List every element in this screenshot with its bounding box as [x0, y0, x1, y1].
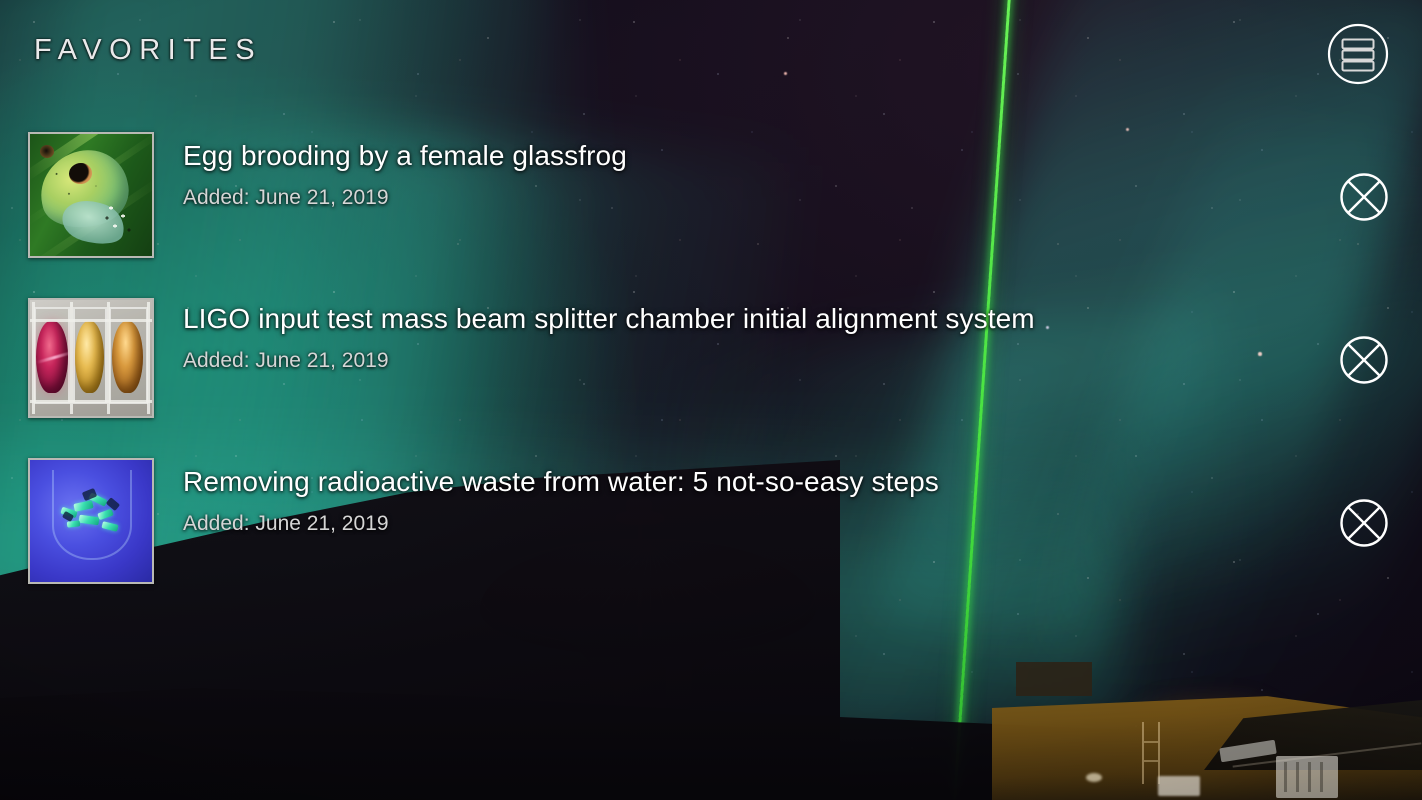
favorite-thumbnail[interactable]: [28, 298, 154, 418]
frog-toes: [101, 200, 142, 241]
chamber-beam: [30, 319, 152, 322]
blue-uv-crystals-thumbnail: [30, 460, 152, 582]
chamber-post: [70, 302, 73, 413]
favorites-screen: FAVORITES: [0, 0, 1422, 800]
crystal-cluster: [57, 487, 130, 538]
crystal: [78, 514, 99, 525]
chamber-post: [107, 302, 110, 413]
optic-amber: [112, 321, 144, 393]
circle-x-icon: [1339, 498, 1389, 548]
page-title: FAVORITES: [34, 34, 262, 67]
circle-x-icon: [1339, 172, 1389, 222]
favorite-title: LIGO input test mass beam splitter chamb…: [183, 303, 1035, 335]
favorite-row[interactable]: LIGO input test mass beam splitter chamb…: [0, 289, 1422, 452]
chamber-beam: [30, 400, 152, 403]
hamburger-menu-icon: [1326, 22, 1390, 86]
favorite-title: Egg brooding by a female glassfrog: [183, 140, 627, 172]
remove-favorite-button[interactable]: [1339, 172, 1389, 222]
favorite-added-date: Added: June 21, 2019: [183, 186, 389, 210]
favorite-title: Removing radioactive waste from water: 5…: [183, 466, 939, 498]
favorite-row[interactable]: Egg brooding by a female glassfrog Added…: [0, 126, 1422, 289]
ligo-optics-chamber-thumbnail: [30, 300, 152, 416]
ui-overlay: FAVORITES: [0, 0, 1422, 800]
favorite-thumbnail[interactable]: [28, 458, 154, 584]
remove-favorite-button[interactable]: [1339, 335, 1389, 385]
chamber-post: [147, 302, 150, 413]
chamber-post: [32, 302, 35, 413]
glassfrog-on-leaf-thumbnail: [30, 134, 152, 256]
favorite-added-date: Added: June 21, 2019: [183, 349, 389, 373]
crystal: [74, 500, 94, 512]
favorite-thumbnail[interactable]: [28, 132, 154, 258]
favorite-row[interactable]: Removing radioactive waste from water: 5…: [0, 452, 1422, 615]
circle-x-icon: [1339, 335, 1389, 385]
favorite-added-date: Added: June 21, 2019: [183, 512, 389, 536]
hamburger-menu-button[interactable]: [1326, 22, 1390, 86]
crystal: [102, 521, 119, 532]
favorites-list: Egg brooding by a female glassfrog Added…: [0, 126, 1422, 615]
optic-gold: [75, 321, 104, 393]
crystal: [97, 509, 113, 521]
remove-favorite-button[interactable]: [1339, 498, 1389, 548]
